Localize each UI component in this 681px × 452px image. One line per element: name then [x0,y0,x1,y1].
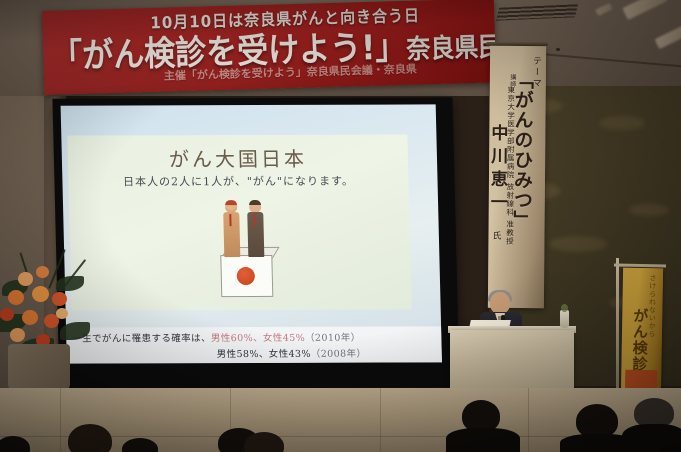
lecturer-name-suffix: 氏 [490,231,499,240]
audience-head [576,404,618,438]
ceiling-sensor-dot [556,48,560,51]
statistic-year: （2010年） [305,333,361,344]
figure-tie [229,214,231,226]
statistic-year: （2008年） [311,349,367,360]
statistic-highlight: 男性58%、女性43% [217,349,311,360]
ceiling-light-panel [655,22,681,49]
podium-small-vase [560,310,569,328]
flower-vase [8,344,70,392]
figure-tie [253,214,255,226]
statistic-row: 男性58%、女性43%（2008年） [217,346,367,361]
figure-person-left [221,201,242,257]
audience-head [68,424,112,452]
nobori-main-text: がん検診 [629,308,651,372]
vertical-theme-banner: テーマ 「がんのひみつ」 講師 東京大学医学部附属病院 放射線科 准教授 中川恵… [488,46,546,308]
slide-statistics-band: 一生でがんに罹患する確率は、男性60%、女性45%（2010年） 男性58%、女… [66,326,442,363]
main-event-banner: 10月10日は奈良県がんと向き合う日 「がん検診を受けよう!」奈良県民会議 総会… [42,0,496,95]
projection-screen: がん大国日本 日本人の2人に1人が、"がん"になります。 [61,104,442,363]
audience-shoulders [622,424,681,452]
slide-title: がん大国日本 [68,142,409,172]
statistic-highlight: 男性60%、女性45% [211,333,305,344]
ceiling-vent-grille [496,4,578,20]
slide-content-area: がん大国日本 日本人の2人に1人が、"がん"になります。 [67,134,411,310]
ceiling-light-panel [622,0,667,20]
figure-person-right [245,201,266,257]
speaker-head [490,292,510,314]
banner-subtitle: 奈良県民会議 総会・講演会 [406,26,496,65]
lecture-hall-photo: 10月10日は奈良県がんと向き合う日 「がん検診を受けよう!」奈良県民会議 総会… [0,0,681,452]
statistic-row: 一生でがんに罹患する確率は、男性60%、女性45%（2010年） [72,330,361,345]
slide-illustration-two-people-on-japan [201,197,290,302]
lecturer-affiliation: 東京大学医学部附属病院 放射線科 准教授 [506,86,515,246]
figure-body [247,212,264,257]
ceiling-light-panel [595,3,612,16]
floral-arrangement [0,252,100,364]
nobori-pole [616,258,619,408]
projection-screen-frame: がん大国日本 日本人の2人に1人が、"がん"になります。 [52,97,459,388]
figure-body [223,212,240,257]
audience-shoulders [446,428,520,452]
slide-subtitle: 日本人の2人に1人が、"がん"になります。 [68,172,408,189]
lecturer-name: 中川恵一 [488,124,506,216]
japan-flag-circle-icon [237,267,255,285]
nobori-banner-cancer-screening: さけられないから がん検診 [621,268,663,397]
